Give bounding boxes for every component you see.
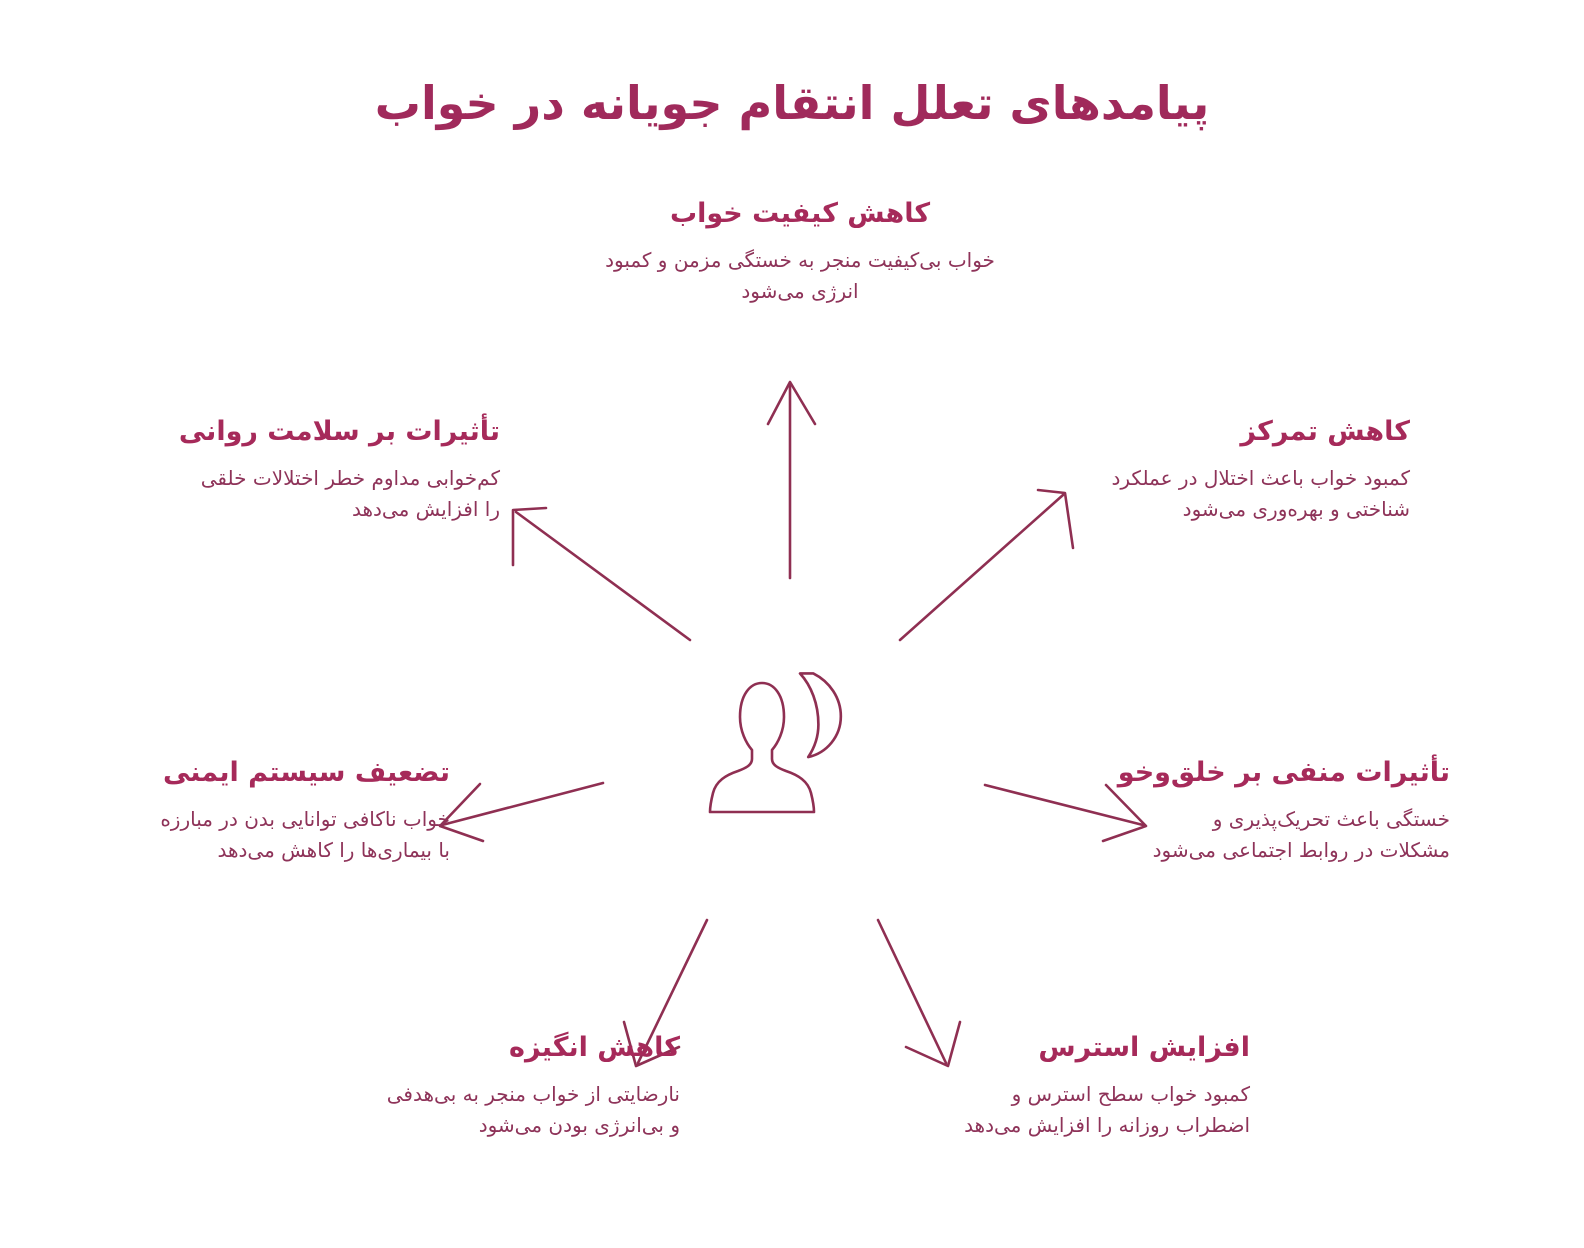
- node-focus-description: کمبود خواب باعث اختلال در عملکرد شناختی …: [1110, 463, 1410, 525]
- node-motivation-title: کاهش انگیزه: [380, 1030, 680, 1065]
- node-sleep-quality: کاهش کیفیت خواب خواب بی‌کیفیت منجر به خس…: [600, 196, 1000, 307]
- node-mental-health: تأثیرات بر سلامت روانی کم‌خوابی مداوم خط…: [180, 414, 500, 525]
- node-mental-health-description: کم‌خوابی مداوم خطر اختلالات خلقی را افزا…: [180, 463, 500, 525]
- arrow-to-mood: [985, 785, 1146, 841]
- infographic-canvas: پیامدهای تعلل انتقام جویانه در خواب: [0, 0, 1584, 1248]
- arrow-to-immune: [440, 783, 603, 841]
- arrow-to-focus: [900, 490, 1073, 640]
- arrow-layer: [0, 0, 1584, 1248]
- node-mood-description: خستگی باعث تحریک‌پذیری و مشکلات در روابط…: [1150, 804, 1450, 866]
- node-focus-title: کاهش تمرکز: [1110, 414, 1410, 449]
- node-motivation-description: نارضایتی از خواب منجر به بی‌هدفی و بی‌ان…: [380, 1079, 680, 1141]
- node-sleep-quality-description: خواب بی‌کیفیت منجر به خستگی مزمن و کمبود…: [600, 245, 1000, 307]
- person-with-moon-icon: [700, 655, 880, 820]
- arrow-to-stress: [878, 920, 960, 1066]
- node-immune: تضعیف سیستم ایمنی خواب ناکافی توانایی بد…: [150, 755, 450, 866]
- node-sleep-quality-title: کاهش کیفیت خواب: [600, 196, 1000, 231]
- arrow-to-sleep-quality: [768, 382, 815, 578]
- node-stress-description: کمبود خواب سطح استرس و اضطراب روزانه را …: [960, 1079, 1250, 1141]
- node-mood: تأثیرات منفی بر خلق‌وخو خستگی باعث تحریک…: [1150, 755, 1450, 866]
- node-motivation: کاهش انگیزه نارضایتی از خواب منجر به بی‌…: [380, 1030, 680, 1141]
- node-stress-title: افزایش استرس: [960, 1030, 1250, 1065]
- node-mood-title: تأثیرات منفی بر خلق‌وخو: [1150, 755, 1450, 790]
- node-focus: کاهش تمرکز کمبود خواب باعث اختلال در عمل…: [1110, 414, 1410, 525]
- node-immune-description: خواب ناکافی توانایی بدن در مبارزه با بیم…: [150, 804, 450, 866]
- node-stress: افزایش استرس کمبود خواب سطح استرس و اضطر…: [960, 1030, 1250, 1141]
- node-mental-health-title: تأثیرات بر سلامت روانی: [180, 414, 500, 449]
- arrow-to-mental-health: [513, 508, 690, 640]
- page-title: پیامدهای تعلل انتقام جویانه در خواب: [0, 75, 1584, 133]
- node-immune-title: تضعیف سیستم ایمنی: [150, 755, 450, 790]
